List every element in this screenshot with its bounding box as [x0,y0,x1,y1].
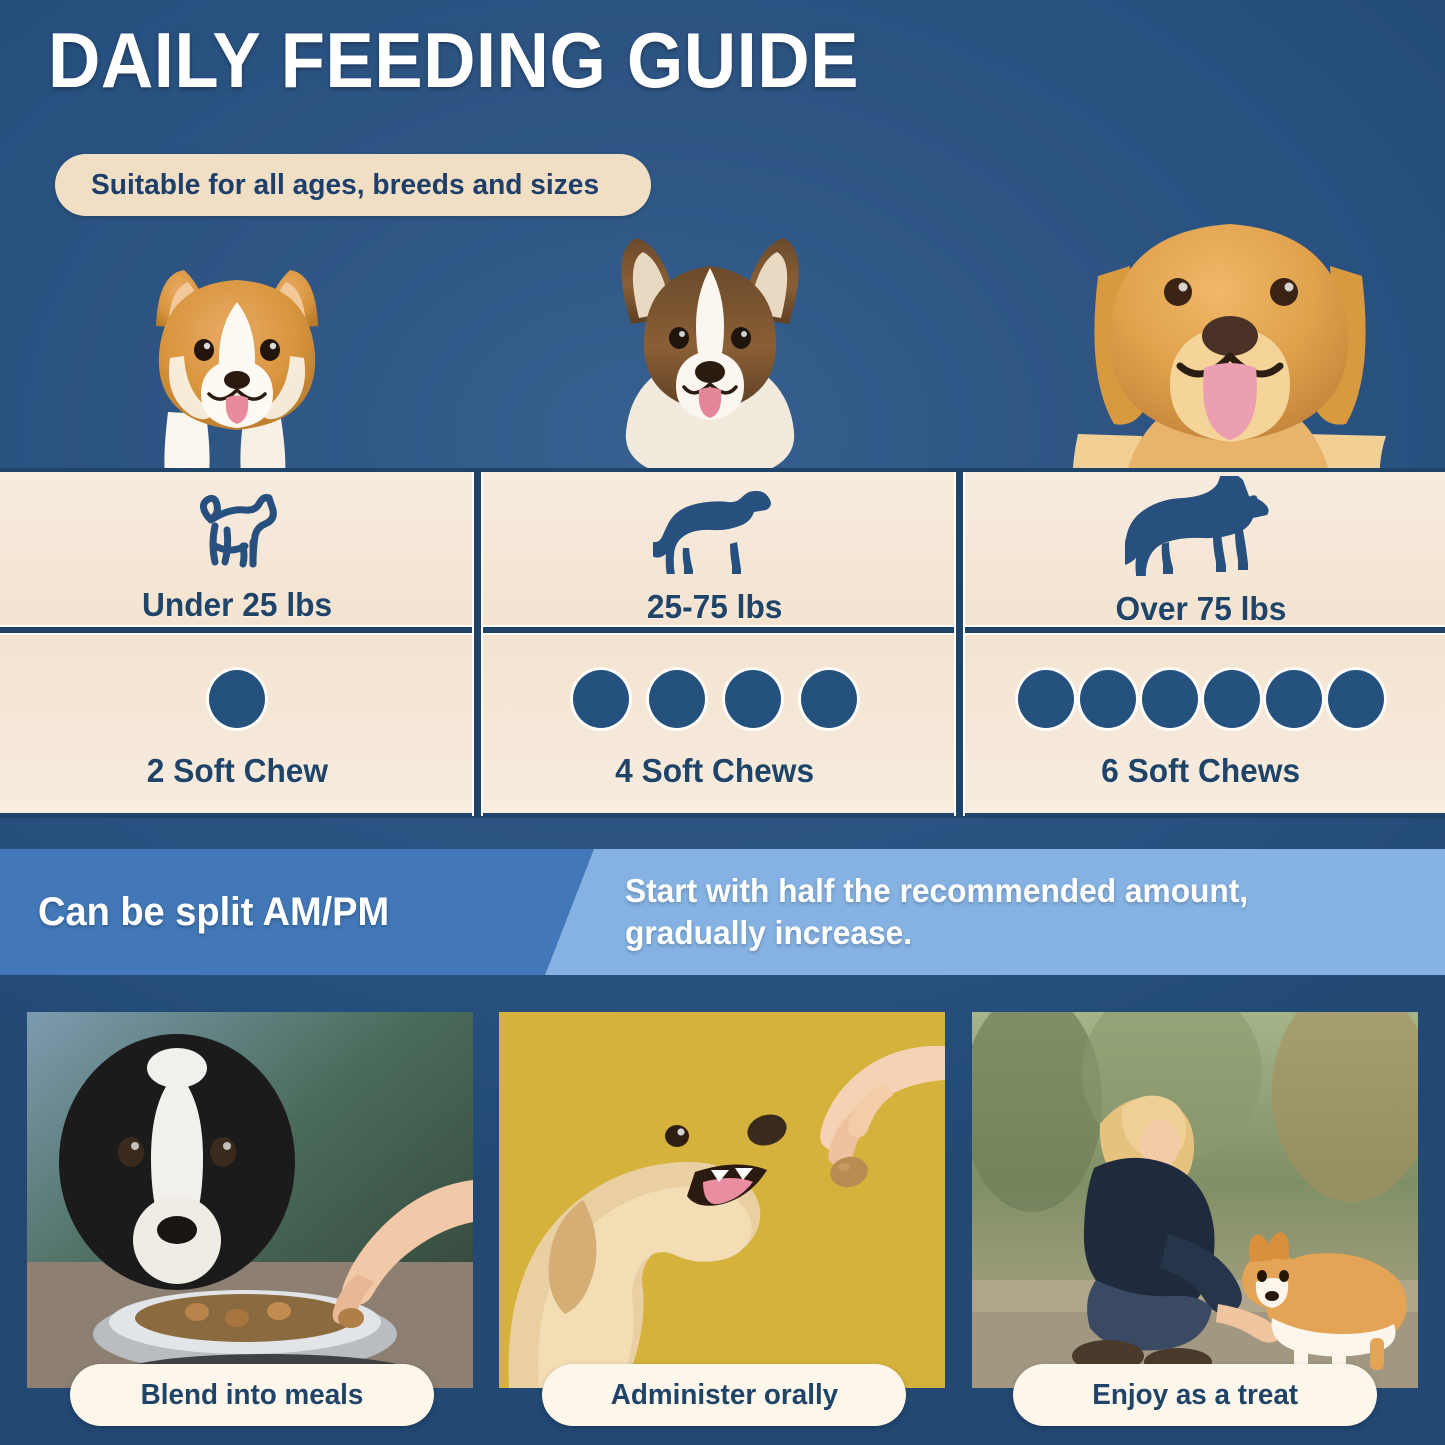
feeding-guide-infographic: DAILY FEEDING GUIDE Suitable for all age… [0,0,1445,1445]
banner-right-text: Start with half the recommended amount, … [625,849,1393,975]
page-title: DAILY FEEDING GUIDE [48,18,859,102]
chew-dot [1142,670,1198,728]
chew-dots-medium [573,668,857,730]
chew-dot [209,670,265,728]
subtitle-pill: Suitable for all ages, breeds and sizes [55,154,651,216]
weight-label-medium: 25-75 lbs [647,588,783,626]
chew-dot [1266,670,1322,728]
dose-cell-large: 6 Soft Chews [956,668,1445,790]
caption-text: Blend into meals [141,1379,364,1412]
chew-dot [801,670,857,728]
table-bottom-border [0,813,1445,818]
chew-dot [573,670,629,728]
blend-into-meals-card [27,1012,473,1388]
small-dog-icon [189,488,285,574]
dose-label-small: 2 Soft Chew [146,752,327,790]
dose-cell-medium: 4 Soft Chews [474,668,956,790]
weight-label-large: Over 75 lbs [1115,590,1286,628]
medium-dog-icon [653,480,777,574]
chew-dots-large [1018,668,1384,730]
dose-label-medium: 4 Soft Chews [616,752,815,790]
border-collie-photo [585,232,835,490]
weight-cell-medium: 25-75 lbs [474,480,956,626]
chew-dot [1328,670,1384,728]
caption-pill-administer: Administer orally [542,1364,906,1426]
subtitle-text: Suitable for all ages, breeds and sizes [91,169,599,202]
large-dog-icon [1125,476,1277,576]
caption-pill-treat: Enjoy as a treat [1013,1364,1377,1426]
chew-dot [725,670,781,728]
banner-right-line-1: Start with half the recommended amount, [625,870,1393,912]
weight-cell-large: Over 75 lbs [956,476,1445,628]
chew-dots-small [209,668,265,730]
caption-text: Administer orally [610,1379,837,1412]
weight-label-small: Under 25 lbs [142,586,332,624]
enjoy-as-a-treat-card [972,1012,1418,1388]
banner-left-text: Can be split AM/PM [38,849,389,975]
chew-dot [1018,670,1074,728]
dose-label-large: 6 Soft Chews [1101,752,1300,790]
chew-dot [1080,670,1136,728]
caption-text: Enjoy as a treat [1092,1379,1298,1412]
golden-retriever-photo [1042,206,1442,496]
corgi-photo [130,262,345,487]
dose-cell-small: 2 Soft Chew [0,668,474,790]
caption-pill-blend: Blend into meals [70,1364,434,1426]
weight-cell-small: Under 25 lbs [0,488,474,624]
chew-dot [1204,670,1260,728]
administer-orally-card [499,1012,945,1388]
split-dose-banner: Can be split AM/PM Start with half the r… [0,849,1445,975]
chew-dot [649,670,705,728]
banner-right-line-2: gradually increase. [625,912,1393,954]
